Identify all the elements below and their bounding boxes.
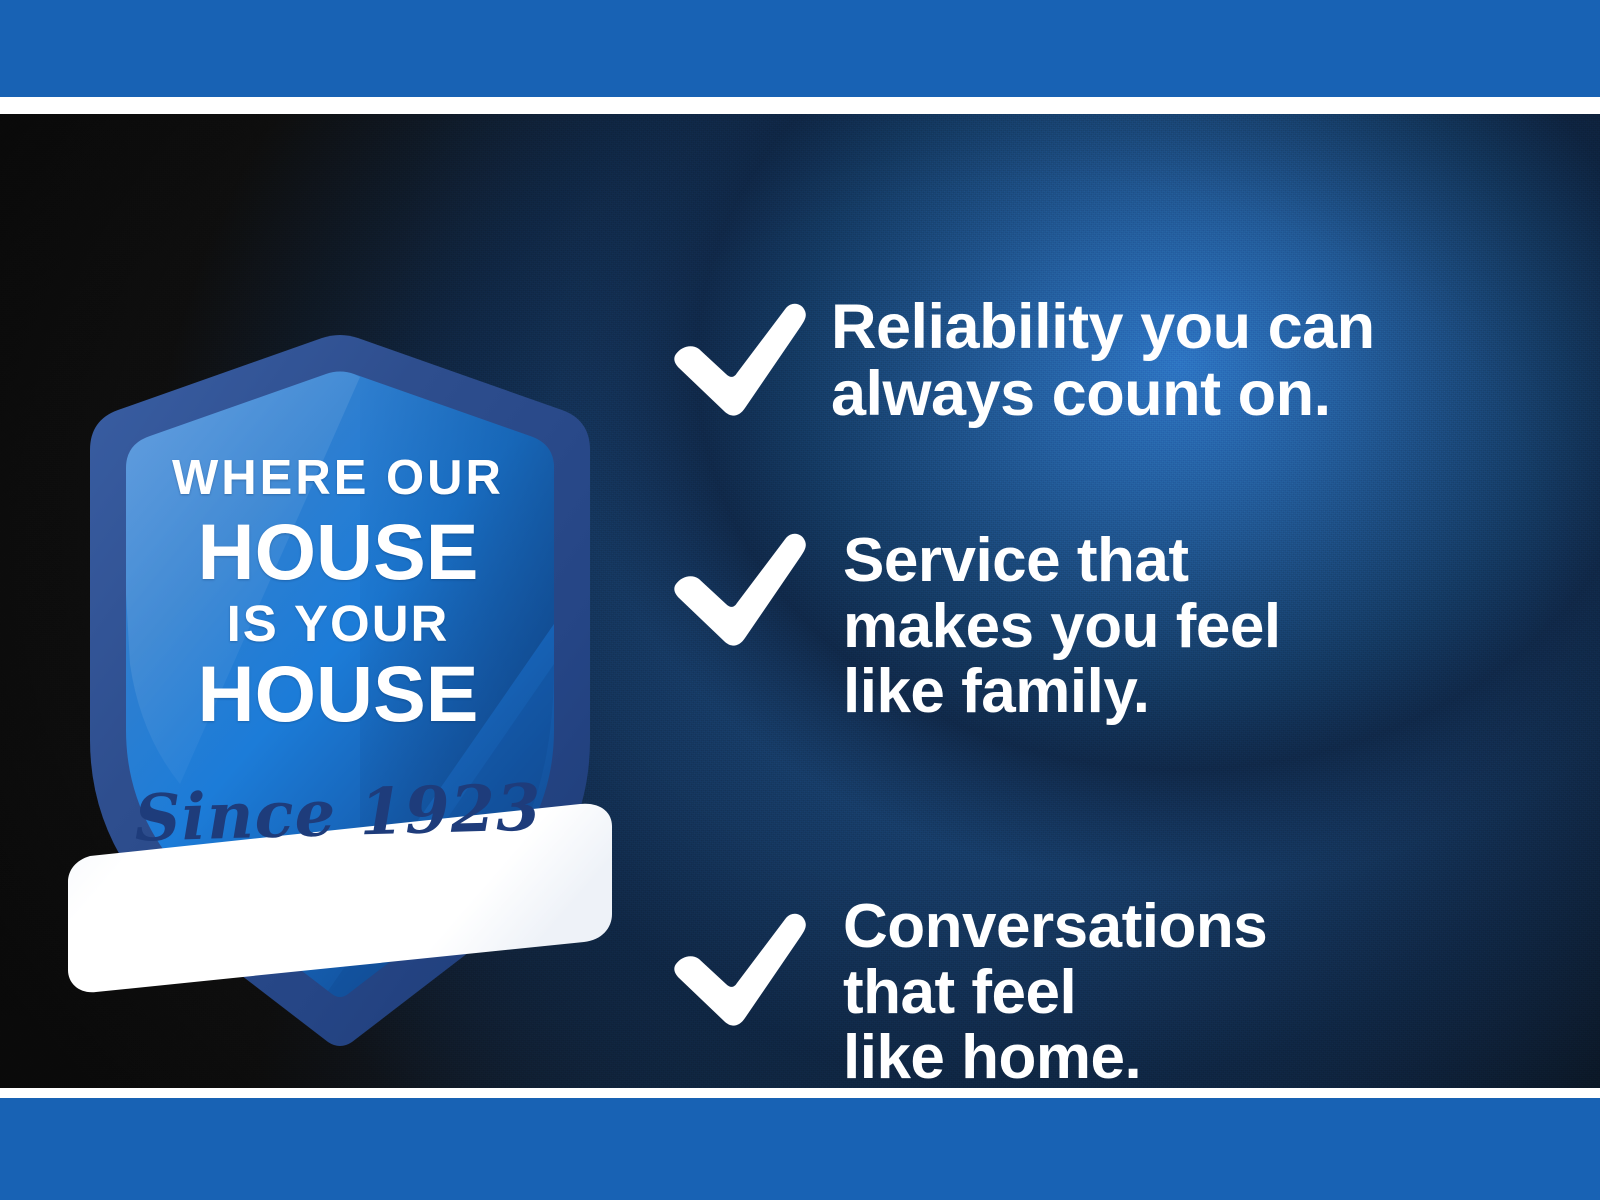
bottom-accent-bar bbox=[0, 1098, 1600, 1200]
check-icon bbox=[668, 302, 808, 422]
promo-poster: Where our House is your House Since 1923… bbox=[0, 0, 1600, 1200]
check-icon bbox=[668, 912, 808, 1032]
check-icon bbox=[668, 532, 808, 652]
shield-badge: Where our House is your House Since 1923 bbox=[60, 264, 620, 1054]
top-accent-bar bbox=[0, 0, 1600, 97]
benefit-text: Reliability you can always count on. bbox=[831, 294, 1375, 428]
main-panel: Where our House is your House Since 1923… bbox=[0, 114, 1600, 1088]
benefit-text: Service that makes you feel like family. bbox=[843, 528, 1281, 725]
benefit-text: Conversations that feel like home. bbox=[843, 894, 1267, 1088]
